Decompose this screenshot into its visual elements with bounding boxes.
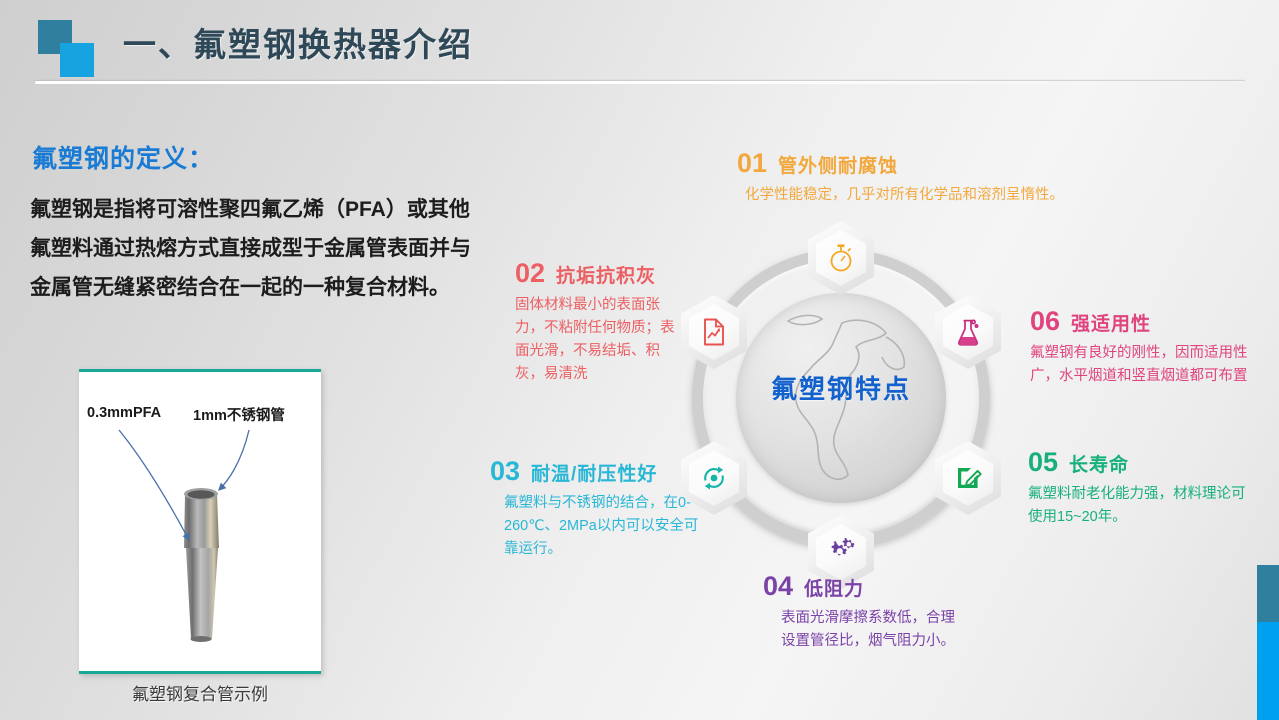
slide-header: 一、氟塑钢换热器介绍	[0, 0, 1279, 92]
feature-number: 01	[737, 148, 767, 179]
feature-description: 氟塑钢有良好的刚性，因而适用性广，水平烟道和竖直烟道都可布置	[1030, 342, 1270, 388]
feature-header: 01 管外侧耐腐蚀	[737, 148, 1064, 179]
flask-icon	[935, 295, 1001, 369]
stopwatch-icon	[808, 221, 874, 295]
features-circle-diagram: 氟塑钢特点	[686, 243, 996, 553]
feature-callout-01: 01 管外侧耐腐蚀 化学性能稳定，几乎对所有化学品和溶剂呈惰性。	[737, 148, 1064, 207]
feature-header: 04 低阻力	[763, 571, 963, 602]
photo-caption: 氟塑钢复合管示例	[79, 680, 321, 705]
feature-number: 04	[763, 571, 793, 602]
feature-description: 氟塑料与不锈钢的结合，在0-260℃、2MPa以内可以安全可靠运行。	[504, 492, 700, 561]
feature-callout-03: 03 耐温/耐压性好 氟塑料与不锈钢的结合，在0-260℃、2MPa以内可以安全…	[490, 456, 700, 561]
hex-node-chart-document[interactable]	[681, 295, 747, 369]
corner-decoration-dark	[1257, 565, 1279, 622]
feature-title: 强适用性	[1071, 309, 1151, 336]
hex-node-edit[interactable]	[935, 441, 1001, 515]
feature-title: 管外侧耐腐蚀	[778, 151, 898, 178]
feature-title: 低阻力	[804, 574, 864, 601]
feature-callout-05: 05 长寿命 氟塑料耐老化能力强，材料理论可使用15~20年。	[1028, 447, 1248, 529]
feature-description: 表面光滑摩擦系数低，合理设置管径比，烟气阻力小。	[781, 607, 963, 653]
feature-number: 03	[490, 456, 520, 487]
photo-label-pfa: 0.3mmPFA	[87, 405, 161, 421]
feature-description: 化学性能稳定，几乎对所有化学品和溶剂呈惰性。	[745, 184, 1064, 207]
hex-node-stopwatch[interactable]	[808, 221, 874, 295]
feature-header: 02 抗垢抗积灰	[515, 258, 685, 289]
feature-number: 02	[515, 258, 545, 289]
feature-callout-02: 02 抗垢抗积灰 固体材料最小的表面张力，不粘附任何物质；表面光滑，不易结垢、积…	[515, 258, 685, 386]
feature-header: 06 强适用性	[1030, 306, 1270, 337]
feature-title: 长寿命	[1069, 450, 1129, 477]
definition-heading: 氟塑钢的定义：	[32, 139, 214, 175]
composite-pipe-photo: 0.3mmPFA 1mm不锈钢管	[79, 369, 321, 674]
page-title: 一、氟塑钢换热器介绍	[123, 18, 473, 66]
pencil-edit-icon	[935, 441, 1001, 515]
feature-header: 03 耐温/耐压性好	[490, 456, 700, 487]
definition-body: 氟塑钢是指将可溶性聚四氟乙烯（PFA）或其他氟塑料通过热熔方式直接成型于金属管表…	[30, 190, 486, 307]
diagram-center-label: 氟塑钢特点	[686, 369, 996, 406]
feature-number: 05	[1028, 447, 1058, 478]
feature-header: 05 长寿命	[1028, 447, 1248, 478]
chart-document-icon	[681, 295, 747, 369]
logo-square-light-icon	[60, 43, 94, 77]
feature-callout-04: 04 低阻力 表面光滑摩擦系数低，合理设置管径比，烟气阻力小。	[763, 571, 963, 653]
feature-number: 06	[1030, 306, 1060, 337]
header-divider	[35, 81, 1245, 84]
corner-decoration-light	[1257, 622, 1279, 720]
feature-description: 固体材料最小的表面张力，不粘附任何物质；表面光滑，不易结垢、积灰，易清洗	[515, 294, 685, 386]
feature-callout-06: 06 强适用性 氟塑钢有良好的刚性，因而适用性广，水平烟道和竖直烟道都可布置	[1030, 306, 1270, 388]
hex-node-flask[interactable]	[935, 295, 1001, 369]
feature-description: 氟塑料耐老化能力强，材料理论可使用15~20年。	[1028, 483, 1248, 529]
feature-title: 抗垢抗积灰	[556, 261, 656, 288]
feature-title: 耐温/耐压性好	[531, 459, 657, 486]
photo-label-steel: 1mm不锈钢管	[193, 404, 285, 425]
